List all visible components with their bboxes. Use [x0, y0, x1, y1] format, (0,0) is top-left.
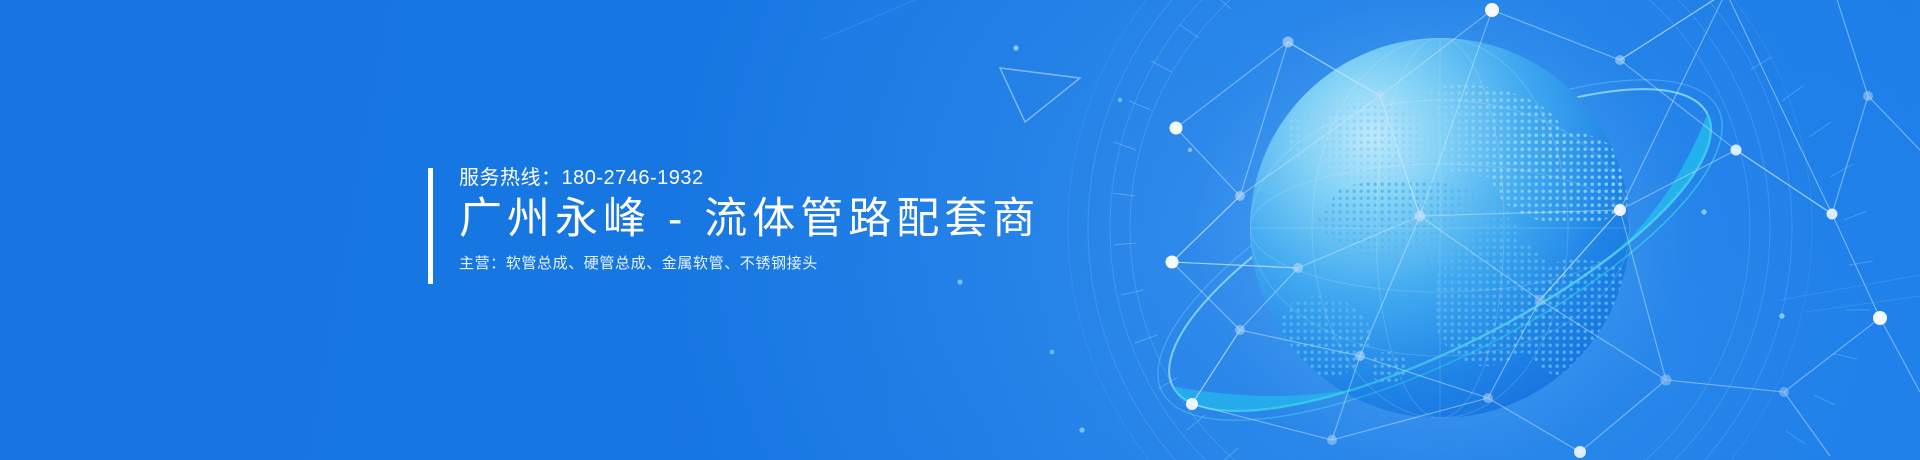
banner-text-block: 服务热线：180-2746-1932 广州永峰 - 流体管路配套商 主营：软管总… [428, 168, 1040, 284]
network-globe-icon [1250, 38, 1662, 418]
accent-bar [428, 168, 433, 284]
orbit-ring-icon [1114, 14, 1766, 460]
business-scope: 主营：软管总成、硬管总成、金属软管、不锈钢接头 [459, 256, 1040, 271]
network-mesh-lines [1172, 0, 1920, 456]
promo-banner: 服务热线：180-2746-1932 广州永峰 - 流体管路配套商 主营：软管总… [0, 0, 1920, 460]
page-title: 广州永峰 - 流体管路配套商 [459, 197, 1040, 242]
network-mesh-nodes [957, 0, 1887, 458]
banner-text-lines: 服务热线：180-2746-1932 广州永峰 - 流体管路配套商 主营：软管总… [459, 168, 1040, 284]
service-hotline: 服务热线：180-2746-1932 [459, 168, 1040, 188]
radar-arc-icon [1113, 0, 1238, 460]
triangle-marker-icon [1000, 68, 1080, 122]
